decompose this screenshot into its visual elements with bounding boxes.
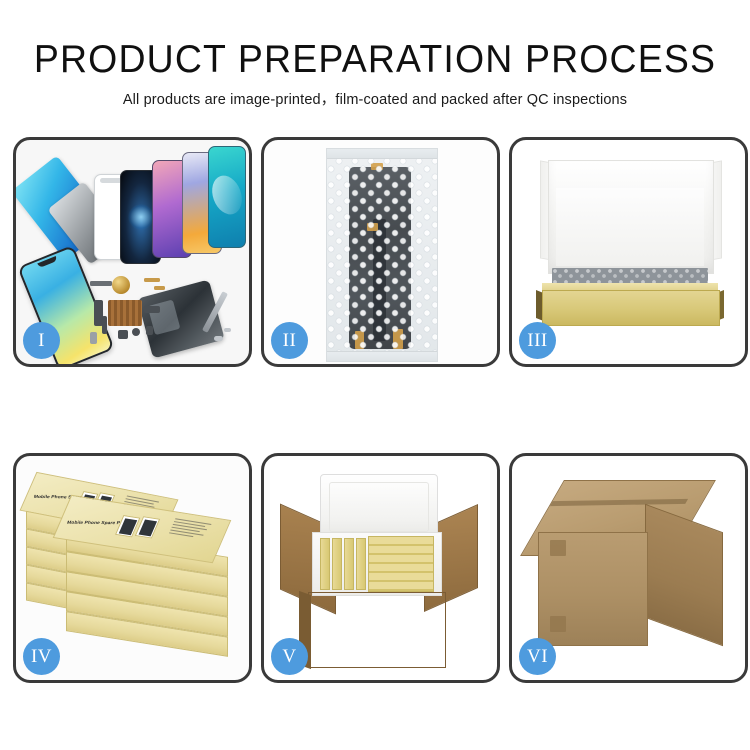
bubble-texture	[327, 149, 437, 361]
small-component	[118, 330, 128, 339]
flex-cable-part	[144, 306, 160, 313]
yellow-box-item	[332, 538, 342, 590]
product-preparation-infographic: PRODUCT PREPARATION PROCESS All products…	[0, 0, 750, 750]
carton-side-face	[645, 504, 723, 646]
spare-part-connector	[144, 278, 160, 282]
small-component	[132, 328, 140, 336]
box-stack: Mobile Phone Spare Parts	[24, 470, 240, 666]
carton-tape-upper	[550, 540, 566, 556]
step-badge-6: VI	[519, 638, 556, 675]
yellow-box-tray	[368, 536, 434, 592]
carton-tape-lower	[550, 616, 566, 632]
spare-part-connector	[154, 286, 165, 290]
screw-part	[214, 336, 223, 341]
bubble-wrap-bag	[326, 148, 438, 362]
step-panel-6: VI	[509, 453, 748, 683]
box-print-text-lines	[168, 518, 211, 541]
screw-part	[224, 328, 231, 332]
flex-cable-part	[102, 316, 107, 334]
step-panel-5: V	[261, 453, 500, 683]
step-badge-5: V	[271, 638, 308, 675]
header: PRODUCT PREPARATION PROCESS All products…	[0, 0, 750, 109]
foam-interior	[556, 188, 704, 266]
carton-front	[308, 592, 446, 668]
step-badge-3: III	[519, 322, 556, 359]
page-title: PRODUCT PREPARATION PROCESS	[15, 38, 735, 82]
small-component	[90, 332, 97, 344]
step-panel-3: III	[509, 137, 748, 367]
yellow-box-item	[344, 538, 354, 590]
teal-gradient-phone	[208, 146, 246, 248]
bag-seal-top	[327, 149, 437, 159]
yellow-box-item	[320, 538, 330, 590]
circuit-board-part	[108, 300, 142, 326]
foam-lid	[320, 474, 438, 540]
step-badge-1: I	[23, 322, 60, 359]
step-panel-4: Mobile Phone Spare Parts	[13, 453, 252, 683]
camera-lens-part	[112, 276, 130, 294]
step-panel-2: II	[261, 137, 500, 367]
step-panel-1: I	[13, 137, 252, 367]
page-subtitle: All products are image-printed，film-coat…	[0, 91, 750, 109]
spare-part-chip	[90, 281, 112, 286]
bag-seal-bottom	[327, 351, 437, 361]
small-component	[146, 326, 153, 335]
yellow-box-front	[542, 290, 720, 326]
yellow-box-item	[356, 538, 366, 590]
step-badge-2: II	[271, 322, 308, 359]
process-steps-grid: I II	[13, 137, 748, 683]
step-badge-4: IV	[23, 638, 60, 675]
